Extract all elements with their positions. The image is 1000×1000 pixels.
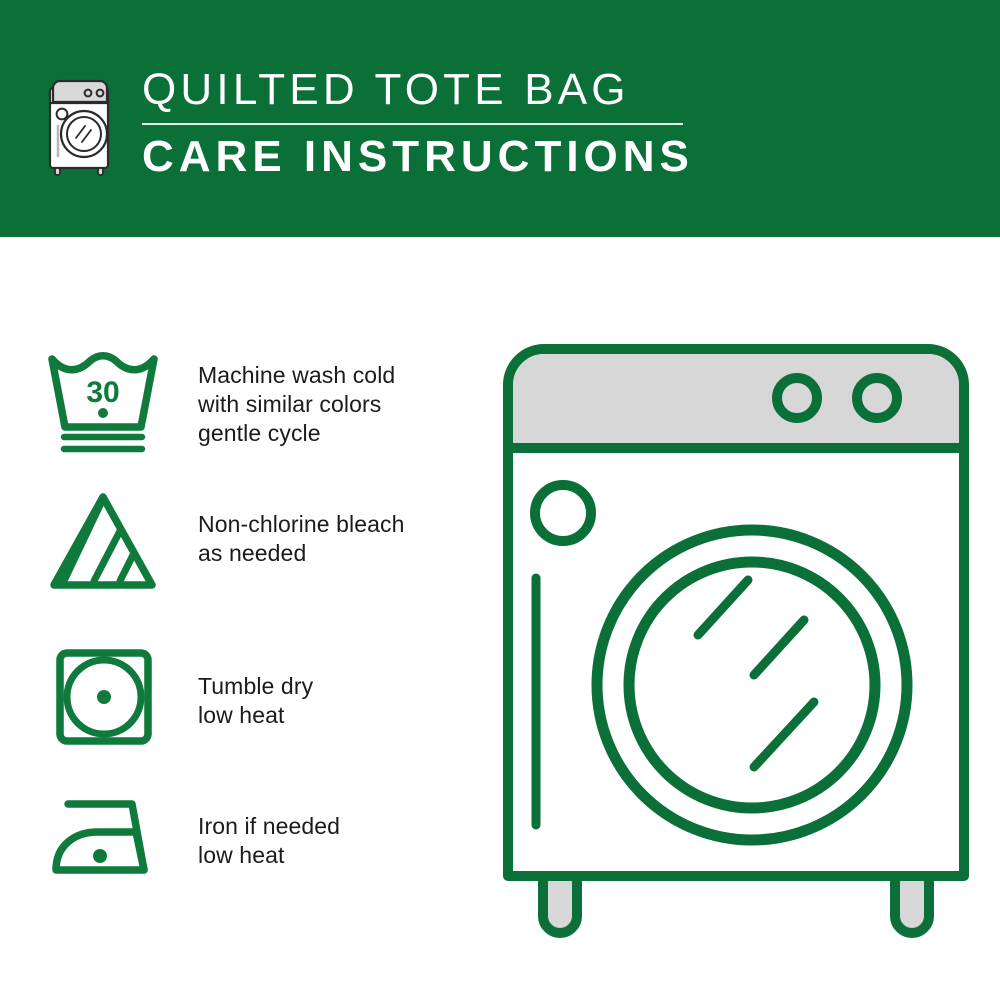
machine-leg-right <box>895 876 929 933</box>
bleach-triangle-icon <box>46 489 166 595</box>
wash-tub-icon: 30 <box>46 349 166 455</box>
page-subtitle: CARE INSTRUCTIONS <box>142 131 842 183</box>
care-row-bleach: Non-chlorine bleach as needed <box>46 489 476 595</box>
care-row-wash: 30 Machine wash cold with similar colors… <box>46 349 476 455</box>
care-text-iron: Iron if needed low heat <box>198 790 340 870</box>
tumble-dry-icon <box>46 643 166 749</box>
header-text-block: QUILTED TOTE BAG CARE INSTRUCTIONS <box>142 64 842 183</box>
washing-machine-illustration <box>486 330 986 945</box>
care-row-iron: Iron if needed low heat <box>46 790 476 886</box>
header-banner: QUILTED TOTE BAG CARE INSTRUCTIONS <box>0 0 1000 237</box>
title-divider <box>142 123 683 125</box>
page-title: QUILTED TOTE BAG <box>142 64 842 116</box>
care-row-tumble-dry: Tumble dry low heat <box>46 643 476 749</box>
iron-icon <box>46 790 166 886</box>
care-text-wash: Machine wash cold with similar colors ge… <box>198 349 395 448</box>
care-text-bleach: Non-chlorine bleach as needed <box>198 489 404 568</box>
machine-leg-left <box>543 876 577 933</box>
washing-machine-icon <box>44 66 116 178</box>
care-text-tumble-dry: Tumble dry low heat <box>198 643 313 730</box>
wash-temp-label: 30 <box>86 376 119 409</box>
care-instructions-page: QUILTED TOTE BAG CARE INSTRUCTIONS 30 Ma… <box>0 0 1000 1000</box>
